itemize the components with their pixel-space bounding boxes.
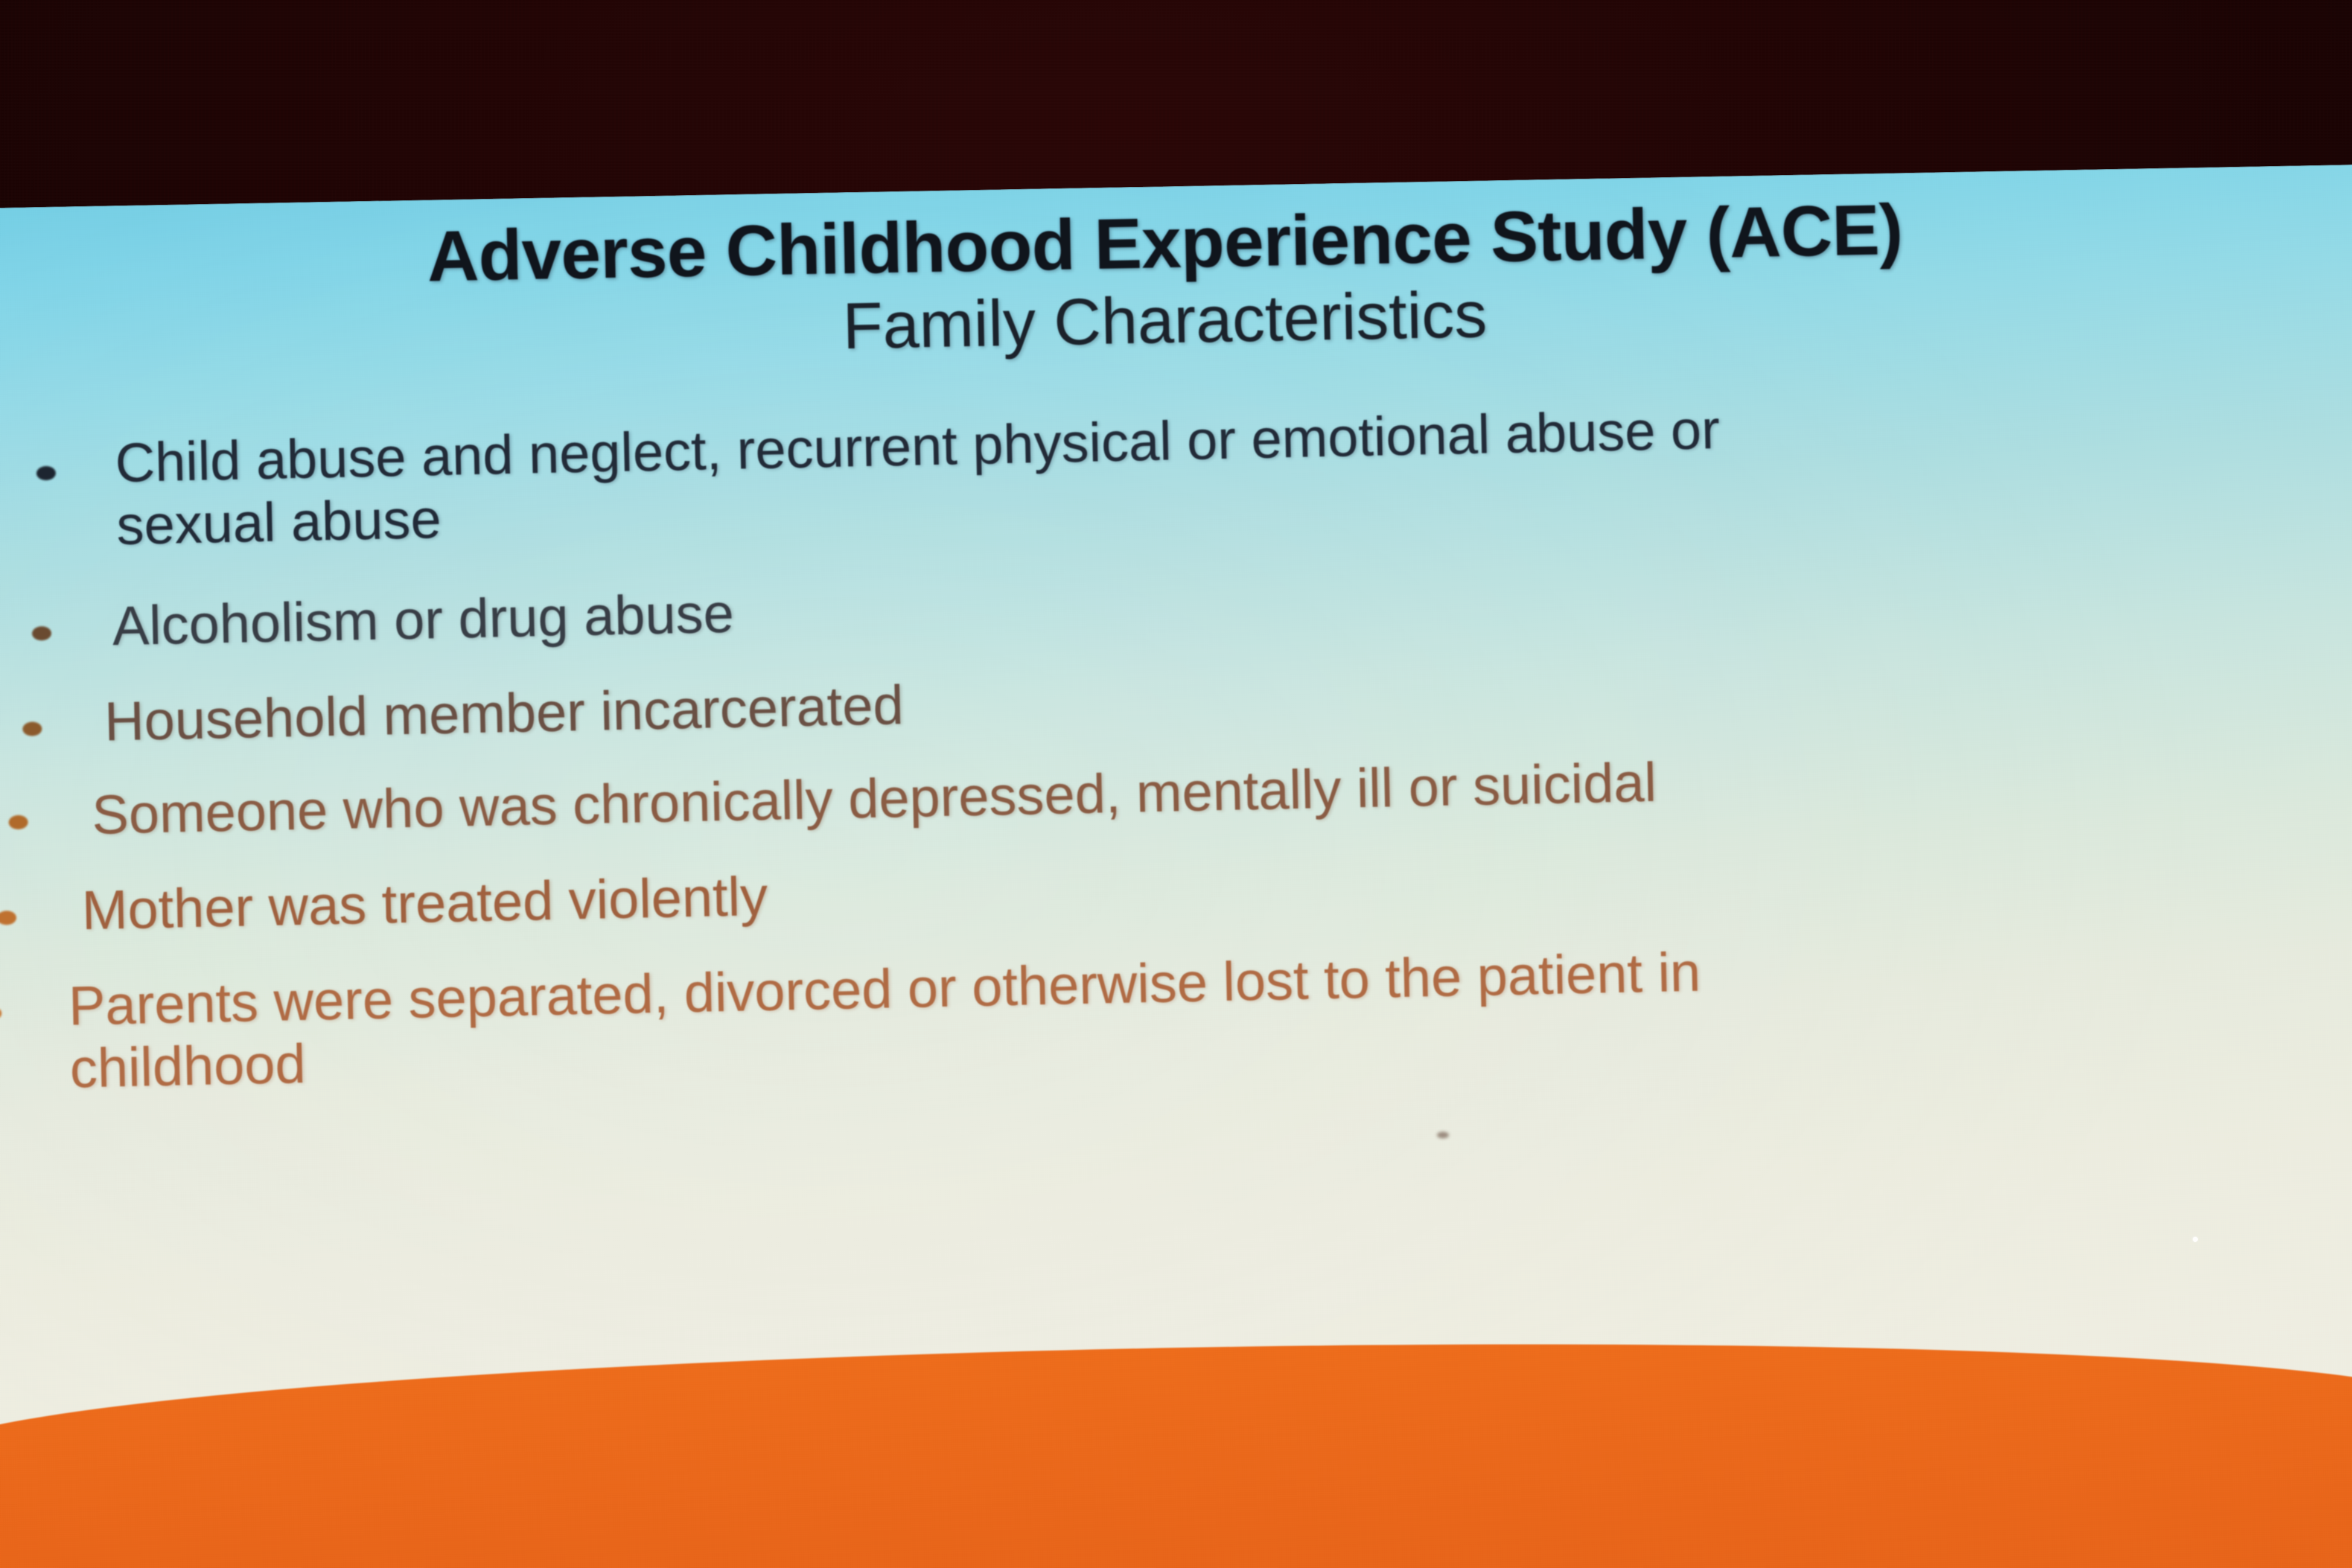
- round-bullet-icon: [22, 721, 42, 736]
- list-item-label: Household member incarcerated: [103, 643, 2352, 753]
- bullet-list: Child abuse and neglect, recurrent physi…: [0, 387, 2352, 1098]
- slide-title-block: Adverse Childhood Experience Study (ACE)…: [0, 185, 2352, 377]
- list-item-label: Someone who was chronically depressed, m…: [92, 736, 2352, 847]
- round-bullet-icon: [32, 626, 51, 641]
- list-item-label: Mother was treated violently: [81, 831, 2352, 942]
- slide-content: Adverse Childhood Experience Study (ACE)…: [0, 164, 2352, 1568]
- projected-slide-photograph: Adverse Childhood Experience Study (ACE)…: [0, 0, 2352, 1568]
- list-item-label: Alcoholism or drug abuse: [112, 547, 2352, 657]
- list-item: Someone who was chronically depressed, m…: [92, 736, 2352, 847]
- list-item: Household member incarcerated: [103, 643, 2352, 753]
- round-bullet-icon: [0, 1006, 1, 1021]
- list-item: Parents were separated, divorced or othe…: [68, 925, 2352, 1099]
- list-item: Mother was treated violently: [81, 831, 2352, 942]
- list-item-label: Parents were separated, divorced or othe…: [68, 925, 2352, 1099]
- list-item: Alcoholism or drug abuse: [112, 547, 2352, 657]
- projection-screen: Adverse Childhood Experience Study (ACE)…: [0, 164, 2352, 1568]
- round-bullet-icon: [8, 815, 28, 830]
- round-bullet-icon: [0, 911, 16, 925]
- list-item: Child abuse and neglect, recurrent physi…: [115, 384, 2352, 557]
- round-bullet-icon: [36, 466, 56, 481]
- list-item-label: Child abuse and neglect, recurrent physi…: [115, 384, 2352, 557]
- dust-speck: [2193, 1237, 2198, 1242]
- dust-smudge: [1437, 1132, 1449, 1138]
